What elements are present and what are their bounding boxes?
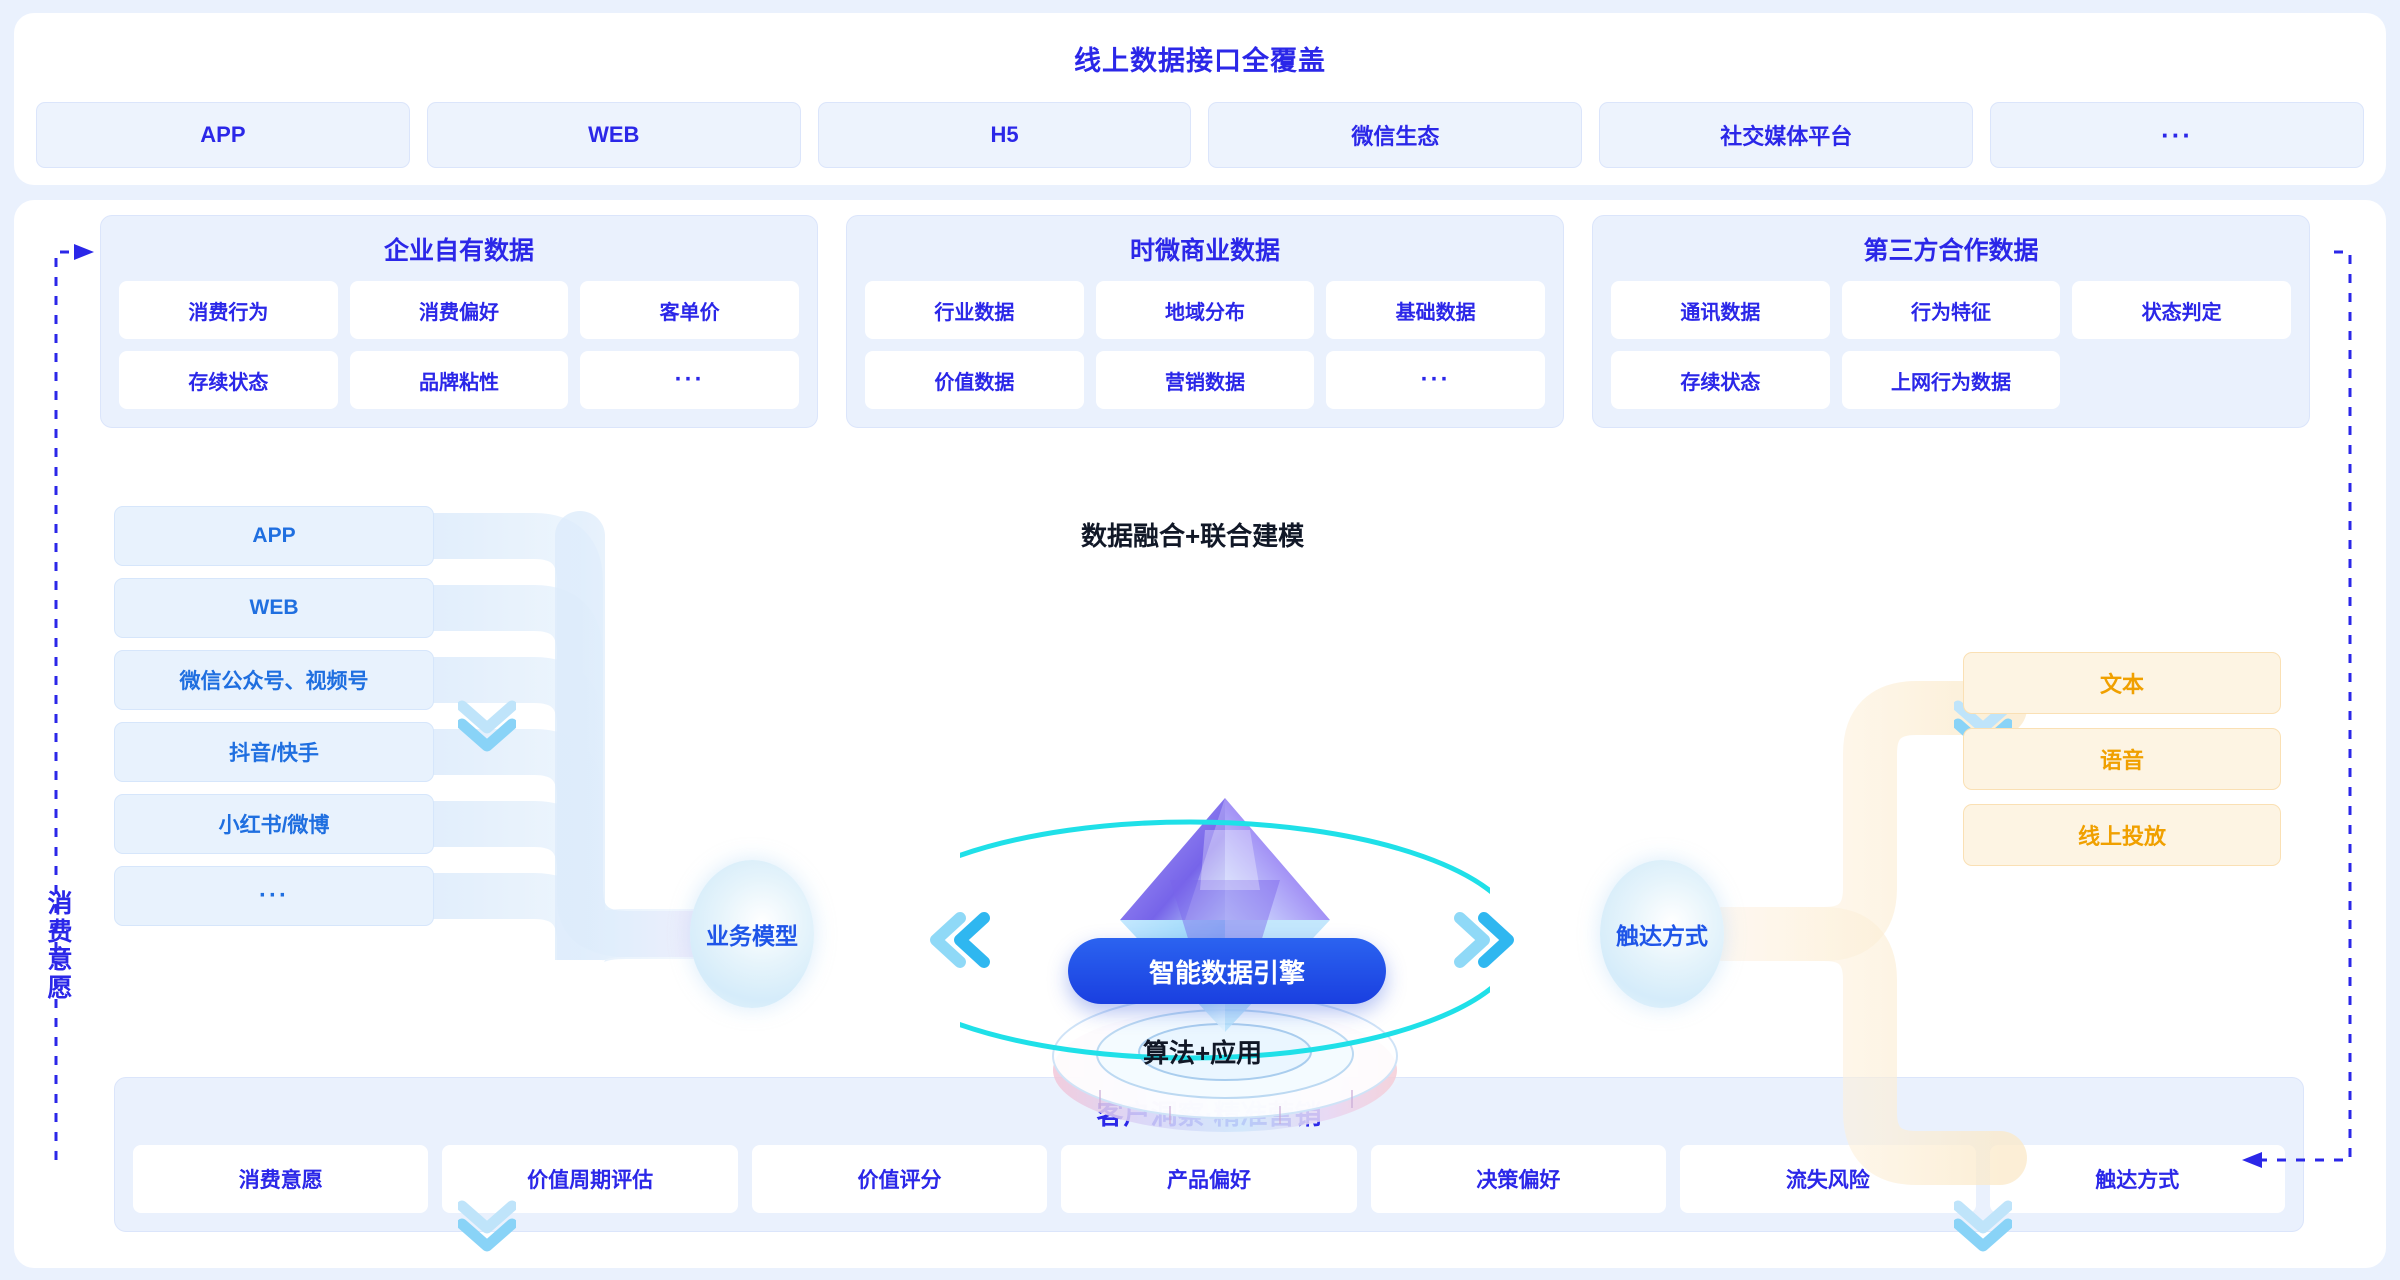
group-cell[interactable]: 存续状态 xyxy=(1611,351,1830,409)
chevron-right-icon xyxy=(1450,910,1520,970)
channel-item-app[interactable]: APP xyxy=(114,506,434,566)
reach-item-online-ads[interactable]: 线上投放 xyxy=(1963,804,2281,866)
top-chip-row: APP WEB H5 微信生态 社交媒体平台 ··· xyxy=(36,102,2364,168)
reach-item-text[interactable]: 文本 xyxy=(1963,652,2281,714)
channel-item-xiaohongshu[interactable]: 小红书/微博 xyxy=(114,794,434,854)
group-title: 第三方合作数据 xyxy=(1611,231,2291,267)
top-chip-social[interactable]: 社交媒体平台 xyxy=(1599,102,1973,168)
group-cell[interactable]: 价值数据 xyxy=(865,351,1084,409)
group-cell-more[interactable]: ··· xyxy=(580,351,799,409)
group-cell[interactable]: 通讯数据 xyxy=(1611,281,1830,339)
top-panel-title: 线上数据接口全覆盖 xyxy=(14,13,2386,78)
top-chip-app[interactable]: APP xyxy=(36,102,410,168)
group-cell[interactable]: 状态判定 xyxy=(2072,281,2291,339)
channel-item-more[interactable]: ··· xyxy=(114,866,434,926)
group-cell-grid: 行业数据 地域分布 基础数据 价值数据 营销数据 ··· xyxy=(865,281,1545,409)
group-cell[interactable]: 基础数据 xyxy=(1326,281,1545,339)
reach-item-voice[interactable]: 语音 xyxy=(1963,728,2281,790)
main-panel: 企业自有数据 消费行为 消费偏好 客单价 存续状态 品牌粘性 ··· 时微商业数… xyxy=(14,200,2386,1268)
label-algorithm-application: 算法+应用 xyxy=(1143,1033,1262,1070)
group-cell[interactable]: 存续状态 xyxy=(119,351,338,409)
top-chip-web[interactable]: WEB xyxy=(427,102,801,168)
chevron-down-icon xyxy=(458,1200,516,1252)
group-cell[interactable]: 品牌粘性 xyxy=(350,351,569,409)
channel-item-douyin[interactable]: 抖音/快手 xyxy=(114,722,434,782)
group-third-party-data: 第三方合作数据 通讯数据 行为特征 状态判定 存续状态 上网行为数据 xyxy=(1592,215,2310,428)
node-business-model[interactable]: 业务模型 xyxy=(690,860,814,1008)
group-cell[interactable]: 地域分布 xyxy=(1096,281,1315,339)
arrow-head-left xyxy=(74,244,94,260)
group-title: 时微商业数据 xyxy=(865,231,1545,267)
group-cell[interactable]: 营销数据 xyxy=(1096,351,1315,409)
group-cell-grid: 消费行为 消费偏好 客单价 存续状态 品牌粘性 ··· xyxy=(119,281,799,409)
infographic-root: 线上数据接口全覆盖 APP WEB H5 微信生态 社交媒体平台 ··· xyxy=(0,0,2400,1280)
group-cell[interactable]: 行为特征 xyxy=(1842,281,2061,339)
chevron-down-icon xyxy=(1954,1200,2012,1252)
group-cell[interactable]: 行业数据 xyxy=(865,281,1084,339)
top-chip-h5[interactable]: H5 xyxy=(818,102,1192,168)
bottom-cell-consumption-intent[interactable]: 消费意愿 xyxy=(133,1145,428,1213)
chevron-down-icon xyxy=(458,700,516,752)
node-reach-method[interactable]: 触达方式 xyxy=(1600,860,1724,1008)
loop-label-consumption-intent: 消费意愿 xyxy=(38,890,76,1002)
group-enterprise-data: 企业自有数据 消费行为 消费偏好 客单价 存续状态 品牌粘性 ··· xyxy=(100,215,818,428)
group-cell[interactable]: 客单价 xyxy=(580,281,799,339)
channel-item-web[interactable]: WEB xyxy=(114,578,434,638)
group-cell[interactable]: 消费偏好 xyxy=(350,281,569,339)
group-shiwei-business-data: 时微商业数据 行业数据 地域分布 基础数据 价值数据 营销数据 ··· xyxy=(846,215,1564,428)
group-title: 企业自有数据 xyxy=(119,231,799,267)
group-cell[interactable]: 上网行为数据 xyxy=(1842,351,2061,409)
top-chip-wechat[interactable]: 微信生态 xyxy=(1208,102,1582,168)
top-chip-more[interactable]: ··· xyxy=(1990,102,2364,168)
group-cell-grid: 通讯数据 行为特征 状态判定 存续状态 上网行为数据 xyxy=(1611,281,2291,409)
bottom-cell-churn-risk[interactable]: 流失风险 xyxy=(1680,1145,1975,1213)
bottom-cell-reach-method[interactable]: 触达方式 xyxy=(1990,1145,2285,1213)
channel-item-wechat[interactable]: 微信公众号、视频号 xyxy=(114,650,434,710)
intelligent-data-engine-badge[interactable]: 智能数据引擎 xyxy=(1068,938,1386,1004)
data-source-groups: 企业自有数据 消费行为 消费偏好 客单价 存续状态 品牌粘性 ··· 时微商业数… xyxy=(100,215,2310,428)
label-data-fusion: 数据融合+联合建模 xyxy=(1081,516,1304,553)
online-data-interface-panel: 线上数据接口全覆盖 APP WEB H5 微信生态 社交媒体平台 ··· xyxy=(14,13,2386,185)
reach-method-list: 文本 语音 线上投放 xyxy=(1963,652,2281,866)
group-cell[interactable]: 消费行为 xyxy=(119,281,338,339)
group-cell-more[interactable]: ··· xyxy=(1326,351,1545,409)
channel-list: APP WEB 微信公众号、视频号 抖音/快手 小红书/微博 ··· xyxy=(114,506,434,926)
chevron-left-icon xyxy=(924,910,994,970)
group-cell-placeholder xyxy=(2072,351,2291,409)
